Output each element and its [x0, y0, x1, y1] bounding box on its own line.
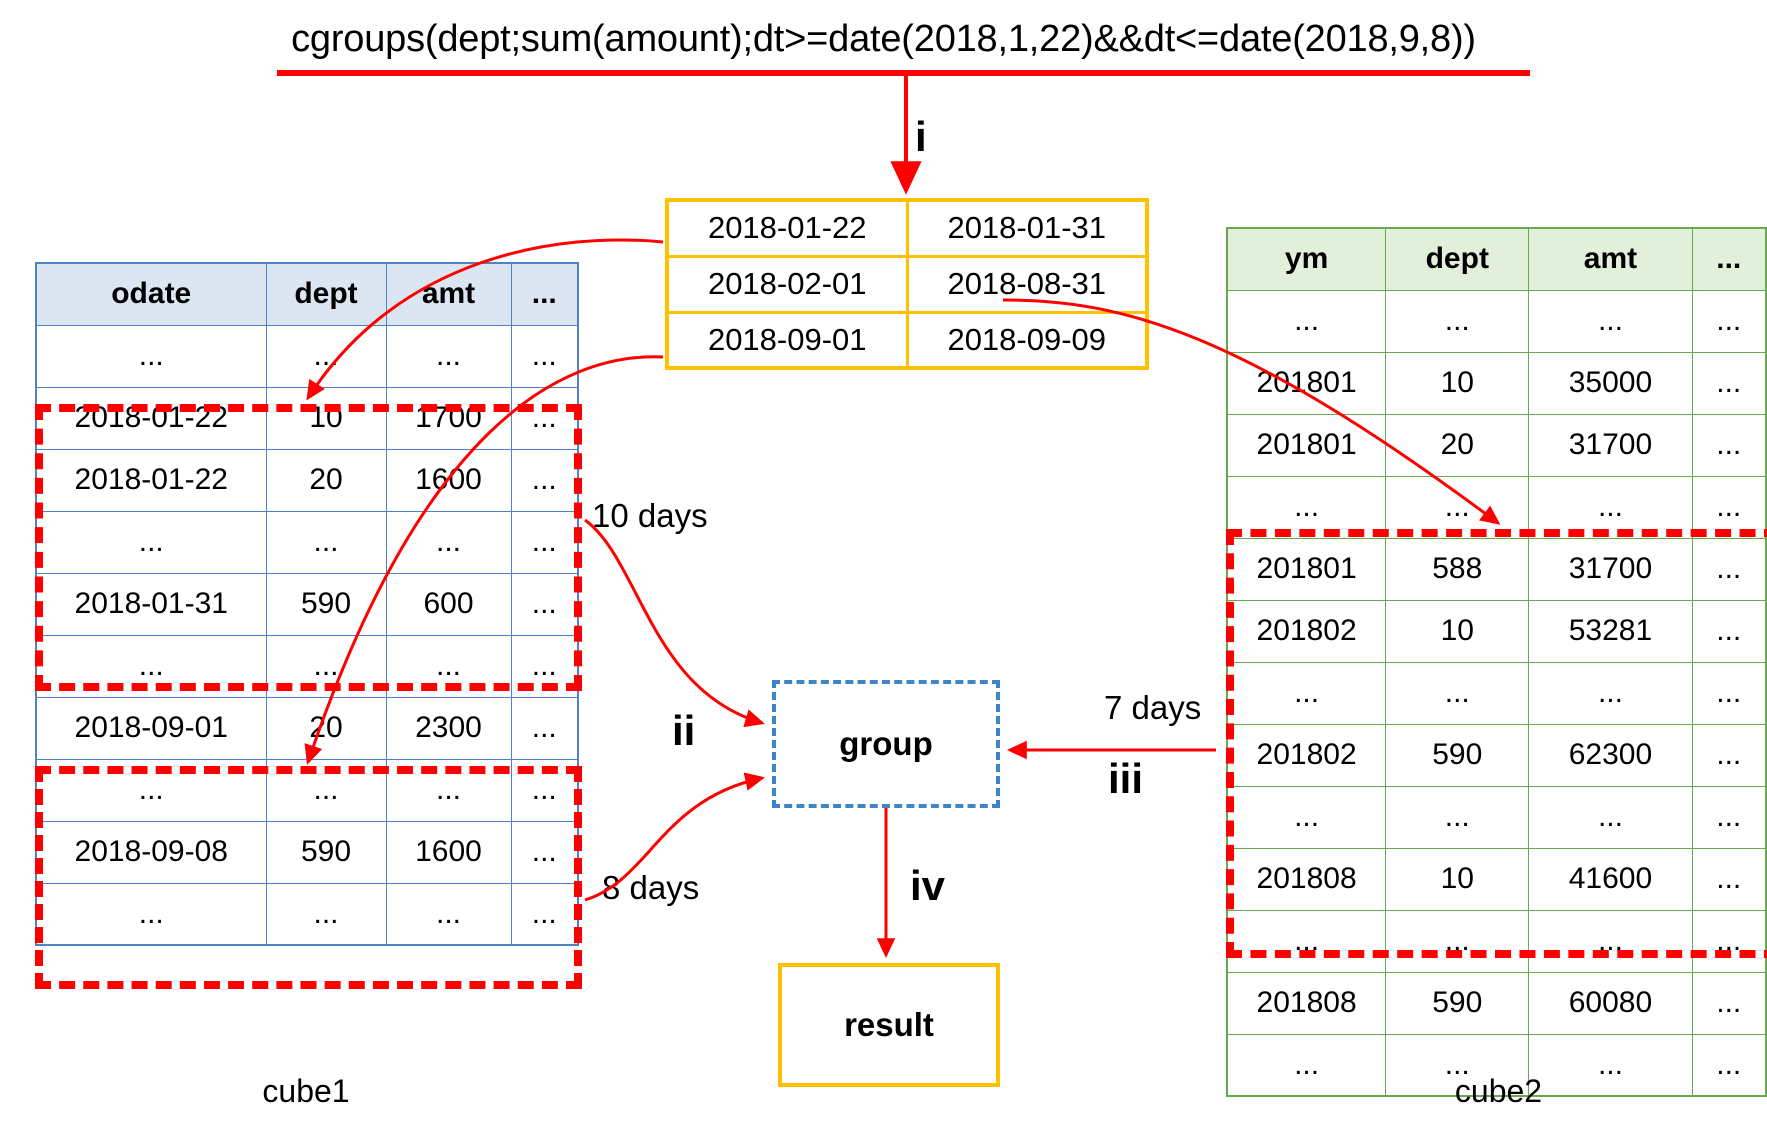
- table-row: 20180259062300...: [1227, 724, 1766, 786]
- cube2-cell: ...: [1227, 476, 1386, 538]
- table-row: 2018-01-22101700...: [36, 387, 578, 449]
- cube1-cell: ...: [266, 635, 386, 697]
- cube2-cell: ...: [1692, 476, 1766, 538]
- cube2-cell: ...: [1386, 910, 1529, 972]
- table-row: 2018-09-01202300...: [36, 697, 578, 759]
- cube1-cell: ...: [36, 325, 266, 387]
- cube2-caption: cube2: [1226, 1073, 1767, 1110]
- date-range-start: 2018-09-01: [667, 312, 907, 368]
- cube2-cell: 590: [1386, 724, 1529, 786]
- cube2-cell: 201808: [1227, 848, 1386, 910]
- column-header-ym: ym: [1227, 228, 1386, 290]
- cube2-cell: ...: [1692, 538, 1766, 600]
- cube2-cell: ...: [1692, 724, 1766, 786]
- cube2-cell: ...: [1692, 972, 1766, 1034]
- cube2-cell: 201801: [1227, 538, 1386, 600]
- cube2-cell: ...: [1227, 662, 1386, 724]
- cube1-cell: 20: [266, 697, 386, 759]
- cube1-cell: 1700: [386, 387, 511, 449]
- cube1-cell: 1600: [386, 449, 511, 511]
- cube2-table: ym dept amt ... ............201801103500…: [1226, 227, 1767, 1097]
- cube2-cell: ...: [1692, 848, 1766, 910]
- cube1-cell: 600: [386, 573, 511, 635]
- cube1-cell: ...: [511, 821, 578, 883]
- cube2-cell: 31700: [1529, 414, 1692, 476]
- cube1-cell: ...: [266, 511, 386, 573]
- cube2-cell: 53281: [1529, 600, 1692, 662]
- cube2-cell: 20: [1386, 414, 1529, 476]
- cube2-cell: ...: [1529, 476, 1692, 538]
- cube1-cell: 2018-01-22: [36, 449, 266, 511]
- step-marker-iv: iv: [910, 862, 945, 910]
- cube1-cell: ...: [266, 325, 386, 387]
- cube1-cell: 590: [266, 821, 386, 883]
- cube2-cell: ...: [1227, 786, 1386, 848]
- date-range-start: 2018-02-01: [667, 256, 907, 312]
- table-row: 2018-02-01 2018-08-31: [667, 256, 1147, 312]
- cube2-cell: ...: [1386, 476, 1529, 538]
- cube1-cell: ...: [386, 759, 511, 821]
- table-row: 2018011035000...: [1227, 352, 1766, 414]
- cube2-cell: ...: [1692, 290, 1766, 352]
- cube1-cell: ...: [386, 511, 511, 573]
- cube1-cell: 2300: [386, 697, 511, 759]
- table-row: 2018-01-22201600...: [36, 449, 578, 511]
- table-row: 20180158831700...: [1227, 538, 1766, 600]
- table-row: 20180859060080...: [1227, 972, 1766, 1034]
- result-node-label: result: [844, 1006, 934, 1044]
- label-10-days: 10 days: [592, 497, 708, 535]
- label-8-days: 8 days: [602, 869, 699, 907]
- column-header-more: ...: [1692, 228, 1766, 290]
- label-7-days: 7 days: [1104, 689, 1201, 727]
- date-range-end: 2018-01-31: [907, 200, 1147, 256]
- cube1-cell: 2018-01-22: [36, 387, 266, 449]
- table-row: ............: [1227, 910, 1766, 972]
- cube1-cell: ...: [386, 883, 511, 945]
- cube2-cell: 201802: [1227, 724, 1386, 786]
- cube1-cell: ...: [511, 635, 578, 697]
- cube1-cell: ...: [511, 449, 578, 511]
- table-row: 2018-01-22 2018-01-31: [667, 200, 1147, 256]
- cube2-cell: ...: [1692, 662, 1766, 724]
- cube1-cell: 2018-09-08: [36, 821, 266, 883]
- cube2-cell: 201801: [1227, 352, 1386, 414]
- cube2-cell: 201808: [1227, 972, 1386, 1034]
- cube1-cell: 20: [266, 449, 386, 511]
- cube2-cell: 588: [1386, 538, 1529, 600]
- table-row: 2018-09-01 2018-09-09: [667, 312, 1147, 368]
- cube1-cell: ...: [36, 635, 266, 697]
- cube1-cell: ...: [511, 759, 578, 821]
- column-header-dept: dept: [1386, 228, 1529, 290]
- cube2-cell: 31700: [1529, 538, 1692, 600]
- cube2-cell: 201802: [1227, 600, 1386, 662]
- cube1-cell: ...: [511, 697, 578, 759]
- cube1-cell: ...: [511, 325, 578, 387]
- cube1-cell: ...: [266, 759, 386, 821]
- group-node: group: [772, 680, 1000, 808]
- cube1-cell: 2018-09-01: [36, 697, 266, 759]
- cube2-cell: ...: [1386, 290, 1529, 352]
- cube1-cell: ...: [511, 511, 578, 573]
- table-row: ............: [1227, 476, 1766, 538]
- cube1-cell: 590: [266, 573, 386, 635]
- group-node-label: group: [839, 725, 932, 763]
- cube2-cell: 10: [1386, 352, 1529, 414]
- cube2-cell: ...: [1529, 662, 1692, 724]
- cube2-cell: ...: [1386, 662, 1529, 724]
- cube1-cell: ...: [36, 759, 266, 821]
- cube2-cell: 10: [1386, 600, 1529, 662]
- column-header-odate: odate: [36, 263, 266, 325]
- cube1-cell: ...: [36, 883, 266, 945]
- cube1-table: odate dept amt ... ............2018-01-2…: [35, 262, 579, 946]
- table-header-row: ym dept amt ...: [1227, 228, 1766, 290]
- cube1-cell: ...: [36, 511, 266, 573]
- table-row: ............: [1227, 290, 1766, 352]
- date-range-table: 2018-01-22 2018-01-31 2018-02-01 2018-08…: [665, 198, 1149, 370]
- cube2-cell: ...: [1692, 600, 1766, 662]
- cube2-cell: 62300: [1529, 724, 1692, 786]
- table-row: ............: [36, 325, 578, 387]
- step-marker-iii: iii: [1108, 755, 1143, 803]
- cube2-cell: ...: [1227, 290, 1386, 352]
- table-row: ............: [1227, 786, 1766, 848]
- date-range-start: 2018-01-22: [667, 200, 907, 256]
- cube1-cell: ...: [266, 883, 386, 945]
- cube2-cell: 41600: [1529, 848, 1692, 910]
- cube2-cell: ...: [1386, 786, 1529, 848]
- step-marker-ii: ii: [672, 707, 695, 755]
- table-row: ............: [36, 759, 578, 821]
- cube1-cell: ...: [511, 883, 578, 945]
- cube2-cell: 60080: [1529, 972, 1692, 1034]
- formula-underline: [277, 70, 1530, 76]
- cube2-cell: ...: [1692, 414, 1766, 476]
- table-row: ............: [36, 511, 578, 573]
- arrow-cube1-jan-to-group: [585, 520, 762, 723]
- table-row: 2018081041600...: [1227, 848, 1766, 910]
- result-node: result: [778, 963, 1000, 1087]
- cube2-cell: ...: [1529, 290, 1692, 352]
- table-row: 2018-01-31590600...: [36, 573, 578, 635]
- table-row: ............: [36, 635, 578, 697]
- cube2-cell: ...: [1692, 352, 1766, 414]
- cube2-cell: 35000: [1529, 352, 1692, 414]
- date-range-end: 2018-09-09: [907, 312, 1147, 368]
- cube1-cell: 10: [266, 387, 386, 449]
- cube1-cell: ...: [386, 325, 511, 387]
- cube1-cell: ...: [511, 387, 578, 449]
- cube1-cell: 1600: [386, 821, 511, 883]
- column-header-amt: amt: [386, 263, 511, 325]
- formula-expression: cgroups(dept;sum(amount);dt>=date(2018,1…: [0, 18, 1767, 61]
- diagram-canvas: cgroups(dept;sum(amount);dt>=date(2018,1…: [0, 0, 1767, 1139]
- cube2-cell: 10: [1386, 848, 1529, 910]
- cube2-cell: ...: [1692, 786, 1766, 848]
- cube1-cell: 2018-01-31: [36, 573, 266, 635]
- date-range-end: 2018-08-31: [907, 256, 1147, 312]
- table-row: 2018012031700...: [1227, 414, 1766, 476]
- cube2-cell: 201801: [1227, 414, 1386, 476]
- cube2-cell: ...: [1692, 910, 1766, 972]
- column-header-more: ...: [511, 263, 578, 325]
- column-header-dept: dept: [266, 263, 386, 325]
- cube2-cell: 590: [1386, 972, 1529, 1034]
- cube2-cell: ...: [1529, 786, 1692, 848]
- cube1-cell: ...: [511, 573, 578, 635]
- column-header-amt: amt: [1529, 228, 1692, 290]
- table-row: ............: [1227, 662, 1766, 724]
- cube1-caption: cube1: [35, 1073, 577, 1110]
- table-header-row: odate dept amt ...: [36, 263, 578, 325]
- table-row: 2018-09-085901600...: [36, 821, 578, 883]
- cube2-cell: ...: [1529, 910, 1692, 972]
- cube1-cell: ...: [386, 635, 511, 697]
- cube2-cell: ...: [1227, 910, 1386, 972]
- table-row: ............: [36, 883, 578, 945]
- step-marker-i: i: [915, 113, 927, 161]
- table-row: 2018021053281...: [1227, 600, 1766, 662]
